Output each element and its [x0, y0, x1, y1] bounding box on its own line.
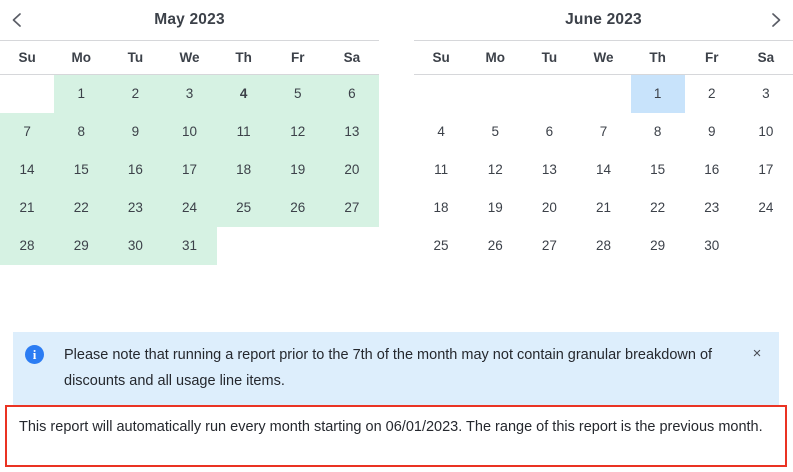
calendar-day[interactable]: 9: [685, 113, 739, 151]
calendar-day-label: 10: [162, 113, 216, 151]
calendar-day[interactable]: 18: [414, 189, 468, 227]
calendar-day-label: 19: [468, 189, 522, 227]
calendar-day[interactable]: 8: [54, 113, 108, 151]
calendar-right-grid: Su Mo Tu We Th Fr Sa 1234567891011121314…: [414, 40, 793, 265]
calendar-day-label: 3: [162, 75, 216, 113]
calendar-day[interactable]: 17: [739, 151, 793, 189]
calendar-day-label: 26: [271, 189, 325, 227]
calendar-day-label: 23: [685, 189, 739, 227]
calendar-week-row: 11121314151617: [414, 151, 793, 189]
calendar-day[interactable]: 3: [739, 75, 793, 114]
calendar-day[interactable]: 1: [54, 75, 108, 114]
calendar-day[interactable]: 12: [468, 151, 522, 189]
calendar-day-label: 12: [271, 113, 325, 151]
calendar-day[interactable]: 2: [685, 75, 739, 114]
weekday-mo: Mo: [468, 41, 522, 75]
calendar-day[interactable]: 10: [739, 113, 793, 151]
calendar-day-label: 3: [739, 75, 793, 113]
calendar-day-label: 1: [54, 75, 108, 113]
calendar-day-label: 11: [217, 113, 271, 151]
calendar-day-label: 27: [522, 227, 576, 265]
calendar-day[interactable]: 3: [162, 75, 216, 114]
weekday-fr: Fr: [271, 41, 325, 75]
calendar-day[interactable]: 10: [162, 113, 216, 151]
calendar-day-label: 22: [631, 189, 685, 227]
calendar-day[interactable]: 17: [162, 151, 216, 189]
calendar-day[interactable]: 7: [0, 113, 54, 151]
calendar-day[interactable]: 5: [271, 75, 325, 114]
calendar-day-label: 23: [108, 189, 162, 227]
calendar-right-title: June 2023: [448, 11, 759, 29]
calendar-day[interactable]: 24: [739, 189, 793, 227]
calendar-day-empty: [271, 227, 325, 265]
calendar-day-label: 18: [217, 151, 271, 189]
calendar-day-label: 20: [522, 189, 576, 227]
calendar-left-grid: Su Mo Tu We Th Fr Sa 1234567891011121314…: [0, 40, 379, 265]
calendar-week-row: 45678910: [414, 113, 793, 151]
calendar-day-label: 5: [468, 113, 522, 151]
calendar-day[interactable]: 27: [325, 189, 379, 227]
calendar-left: May 2023 Su Mo Tu We Th Fr Sa 1234567891…: [0, 0, 379, 265]
calendar-day[interactable]: 6: [522, 113, 576, 151]
calendar-day-label: 16: [685, 151, 739, 189]
weekday-th: Th: [217, 41, 271, 75]
calendar-left-title: May 2023: [34, 11, 345, 29]
calendar-day[interactable]: 23: [108, 189, 162, 227]
calendar-day[interactable]: 27: [522, 227, 576, 265]
calendar-day[interactable]: 14: [0, 151, 54, 189]
weekday-we: We: [162, 41, 216, 75]
calendar-day-label: 25: [414, 227, 468, 265]
calendar-day[interactable]: 11: [414, 151, 468, 189]
calendar-day[interactable]: 31: [162, 227, 216, 265]
calendar-day-empty: [739, 227, 793, 265]
calendar-day[interactable]: 29: [54, 227, 108, 265]
calendar-day[interactable]: 12: [271, 113, 325, 151]
calendar-day-label: 20: [325, 151, 379, 189]
calendar-day[interactable]: 21: [576, 189, 630, 227]
calendar-day[interactable]: 28: [0, 227, 54, 265]
calendar-day-label: 15: [54, 151, 108, 189]
calendar-left-body: 1234567891011121314151617181920212223242…: [0, 75, 379, 266]
weekday-tu: Tu: [522, 41, 576, 75]
calendar-day-label: 8: [631, 113, 685, 151]
calendar-day-label: 6: [522, 113, 576, 151]
calendar-day-label: 6: [325, 75, 379, 113]
calendar-day-empty: [217, 227, 271, 265]
calendar-day-label: 28: [576, 227, 630, 265]
calendar-week-row: 123: [414, 75, 793, 114]
calendar-day-label: 15: [631, 151, 685, 189]
close-icon[interactable]: ×: [747, 344, 767, 364]
calendar-day-label: 30: [685, 227, 739, 265]
calendar-day-label: 26: [468, 227, 522, 265]
calendar-day[interactable]: 21: [0, 189, 54, 227]
weekday-sa: Sa: [739, 41, 793, 75]
info-circle-icon: i: [25, 345, 44, 364]
calendar-day-label: 2: [108, 75, 162, 113]
calendar-day-label: 31: [162, 227, 216, 265]
calendar-week-row: 78910111213: [0, 113, 379, 151]
weekday-we: We: [576, 41, 630, 75]
calendar-day-label: 7: [576, 113, 630, 151]
calendar-day[interactable]: 26: [271, 189, 325, 227]
calendar-right-body: 1234567891011121314151617181920212223242…: [414, 75, 793, 266]
calendar-day[interactable]: 19: [468, 189, 522, 227]
calendar-day[interactable]: 9: [108, 113, 162, 151]
weekday-su: Su: [414, 41, 468, 75]
calendar-day-label: 21: [0, 189, 54, 227]
calendar-day[interactable]: 19: [271, 151, 325, 189]
calendar-day-label: 13: [522, 151, 576, 189]
calendar-day-label: 14: [576, 151, 630, 189]
calendar-day[interactable]: 16: [108, 151, 162, 189]
calendar-day-label: 24: [739, 189, 793, 227]
calendar-day-label: 14: [0, 151, 54, 189]
calendar-day[interactable]: 22: [631, 189, 685, 227]
calendar-day-label: 17: [739, 151, 793, 189]
calendar-day-label: 7: [0, 113, 54, 151]
calendar-day-label: 25: [217, 189, 271, 227]
calendar-day-label: 28: [0, 227, 54, 265]
calendar-day[interactable]: 13: [325, 113, 379, 151]
calendar-day-label: 30: [108, 227, 162, 265]
calendar-left-header: May 2023: [0, 0, 379, 40]
calendar-day[interactable]: 30: [685, 227, 739, 265]
calendar-day-label: 11: [414, 151, 468, 189]
calendar-day[interactable]: 15: [54, 151, 108, 189]
calendar-day[interactable]: 23: [685, 189, 739, 227]
calendar-day-empty: [325, 227, 379, 265]
calendar-day-label: 22: [54, 189, 108, 227]
calendar-day[interactable]: 13: [522, 151, 576, 189]
calendar-day[interactable]: 15: [631, 151, 685, 189]
prev-month-button[interactable]: [0, 3, 34, 37]
calendar-day-label: 10: [739, 113, 793, 151]
calendar-day[interactable]: 8: [631, 113, 685, 151]
calendar-day[interactable]: 16: [685, 151, 739, 189]
calendar-day-label: 12: [468, 151, 522, 189]
date-range-picker: May 2023 Su Mo Tu We Th Fr Sa 1234567891…: [0, 0, 793, 265]
weekday-fr: Fr: [685, 41, 739, 75]
calendar-right-header-spacer: [414, 3, 448, 37]
calendar-day-empty: [576, 75, 630, 114]
calendar-day[interactable]: 14: [576, 151, 630, 189]
calendar-day-label: 17: [162, 151, 216, 189]
calendar-week-row: 123456: [0, 75, 379, 114]
weekday-tu: Tu: [108, 41, 162, 75]
calendar-day[interactable]: 28: [576, 227, 630, 265]
info-banner-text: Please note that running a report prior …: [44, 342, 747, 394]
calendar-day[interactable]: 20: [522, 189, 576, 227]
calendar-day-label: 16: [108, 151, 162, 189]
calendar-day[interactable]: 30: [108, 227, 162, 265]
calendar-day-label: 29: [54, 227, 108, 265]
calendar-day-label: 4: [217, 75, 271, 113]
calendar-day-label: 21: [576, 189, 630, 227]
next-month-button[interactable]: [759, 3, 793, 37]
calendar-day-label: 19: [271, 151, 325, 189]
calendar-day[interactable]: 11: [217, 113, 271, 151]
calendar-day[interactable]: 22: [54, 189, 108, 227]
calendar-right-header: June 2023: [414, 0, 793, 40]
calendar-week-row: 252627282930: [414, 227, 793, 265]
calendar-day[interactable]: 25: [414, 227, 468, 265]
weekday-header-row: Su Mo Tu We Th Fr Sa: [0, 41, 379, 75]
schedule-notice-text: This report will automatically run every…: [19, 414, 773, 440]
calendar-day[interactable]: 1: [631, 75, 685, 114]
calendar-left-header-spacer: [345, 3, 379, 37]
calendar-day-empty: [468, 75, 522, 114]
weekday-header-row: Su Mo Tu We Th Fr Sa: [414, 41, 793, 75]
calendar-day[interactable]: 4: [217, 75, 271, 114]
calendar-day[interactable]: 26: [468, 227, 522, 265]
weekday-sa: Sa: [325, 41, 379, 75]
calendar-day-label: 5: [271, 75, 325, 113]
calendar-week-row: 14151617181920: [0, 151, 379, 189]
calendar-day[interactable]: 2: [108, 75, 162, 114]
calendar-day[interactable]: 29: [631, 227, 685, 265]
calendar-day[interactable]: 6: [325, 75, 379, 114]
calendar-day-label: 9: [108, 113, 162, 151]
calendar-week-row: 21222324252627: [0, 189, 379, 227]
calendar-day[interactable]: 7: [576, 113, 630, 151]
calendar-day-label: 29: [631, 227, 685, 265]
calendar-day-empty: [414, 75, 468, 114]
calendar-week-row: 28293031: [0, 227, 379, 265]
calendar-day-label: 4: [414, 113, 468, 151]
calendar-day-empty: [0, 75, 54, 114]
weekday-mo: Mo: [54, 41, 108, 75]
calendar-right: June 2023 Su Mo Tu We Th Fr Sa 1234567: [414, 0, 793, 265]
calendar-day-label: 1: [631, 75, 685, 113]
calendar-day[interactable]: 25: [217, 189, 271, 227]
calendar-day[interactable]: 20: [325, 151, 379, 189]
calendar-day-empty: [522, 75, 576, 114]
calendar-day[interactable]: 24: [162, 189, 216, 227]
calendar-day-label: 24: [162, 189, 216, 227]
calendar-day[interactable]: 5: [468, 113, 522, 151]
calendar-day[interactable]: 18: [217, 151, 271, 189]
calendar-day-label: 18: [414, 189, 468, 227]
weekday-su: Su: [0, 41, 54, 75]
calendar-week-row: 18192021222324: [414, 189, 793, 227]
calendar-day-label: 2: [685, 75, 739, 113]
schedule-notice: This report will automatically run every…: [5, 405, 787, 467]
calendar-day[interactable]: 4: [414, 113, 468, 151]
weekday-th: Th: [631, 41, 685, 75]
calendar-day-label: 13: [325, 113, 379, 151]
calendar-day-label: 27: [325, 189, 379, 227]
calendar-day-label: 9: [685, 113, 739, 151]
info-banner: i Please note that running a report prio…: [13, 332, 779, 406]
calendar-day-label: 8: [54, 113, 108, 151]
